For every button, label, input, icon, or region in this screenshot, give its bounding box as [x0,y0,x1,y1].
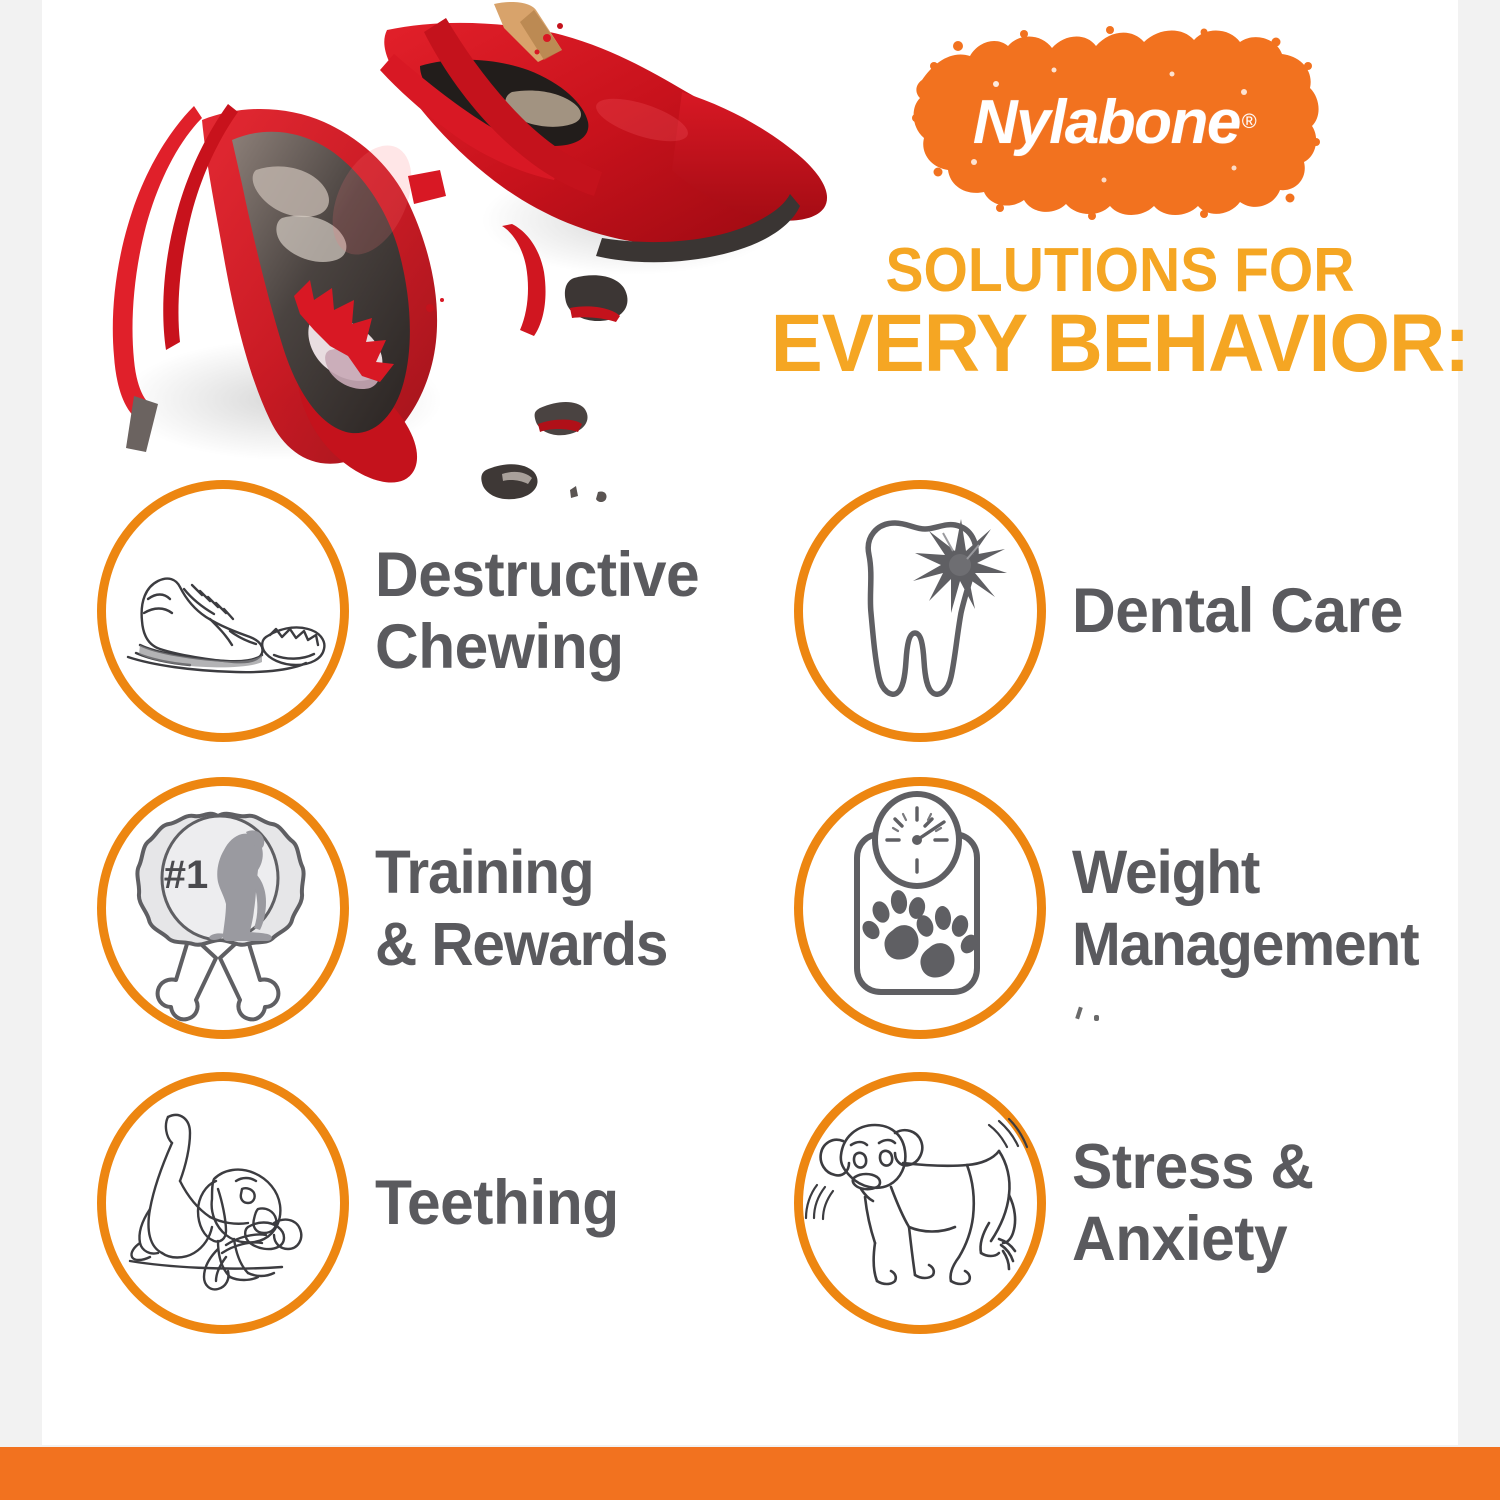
feature-label-training-rewards: Training & Rewards [375,836,667,980]
destructive-chewing-circle [97,480,349,742]
feature-stress-anxiety[interactable]: Stress & Anxiety [794,1072,1324,1334]
bottom-orange-bar [0,1447,1500,1500]
dental-care-circle [794,480,1046,742]
logo-wordmark: Nylabone® [904,22,1324,222]
award-ribbon-dog-icon: #1 [106,786,340,1030]
feature-label-weight-management: Weight Management [1072,836,1418,980]
feature-weight-management[interactable]: Weight Management [794,777,1433,1039]
marketing-graphic-page: Nylabone® SOLUTIONS FOR EVERY BEHAVIOR: [0,0,1500,1500]
heading-line-1: SOLUTIONS FOR [772,238,1468,304]
heading-line-2: EVERY BEHAVIOR: [761,300,1479,388]
feature-dental-care[interactable]: Dental Care [794,480,1417,742]
feature-label-stress-anxiety: Stress & Anxiety [1072,1131,1314,1275]
feature-label-teething: Teething [375,1167,619,1239]
puppy-chewing-bone-icon [106,1081,340,1325]
feature-label-destructive-chewing: Destructive Chewing [375,539,699,683]
feature-destructive-chewing[interactable]: Destructive Chewing [97,480,713,742]
svg-text:#1: #1 [164,853,209,897]
registered-trademark-icon: ® [1242,111,1255,134]
stress-anxiety-circle [794,1072,1046,1334]
sparkling-tooth-icon [803,489,1037,733]
shaking-dog-icon [803,1081,1037,1325]
feature-training-rewards[interactable]: #1 Training & Rewards [97,777,679,1039]
weight-management-circle [794,777,1046,1039]
shoe-upper-right [380,2,827,262]
logo-wordmark-text: Nylabone [973,87,1240,158]
artifact-speck-2 [1094,1015,1099,1021]
paw-scale-icon [803,786,1037,1030]
chewed-shoe-icon [106,489,340,733]
content-card: Nylabone® SOLUTIONS FOR EVERY BEHAVIOR: [42,0,1458,1445]
feature-teething[interactable]: Teething [97,1072,629,1334]
feature-label-dental-care: Dental Care [1072,575,1403,647]
nylabone-logo: Nylabone® [904,22,1324,222]
teething-circle [97,1072,349,1334]
training-rewards-circle: #1 [97,777,349,1039]
page-title: SOLUTIONS FOR EVERY BEHAVIOR: [742,238,1498,388]
